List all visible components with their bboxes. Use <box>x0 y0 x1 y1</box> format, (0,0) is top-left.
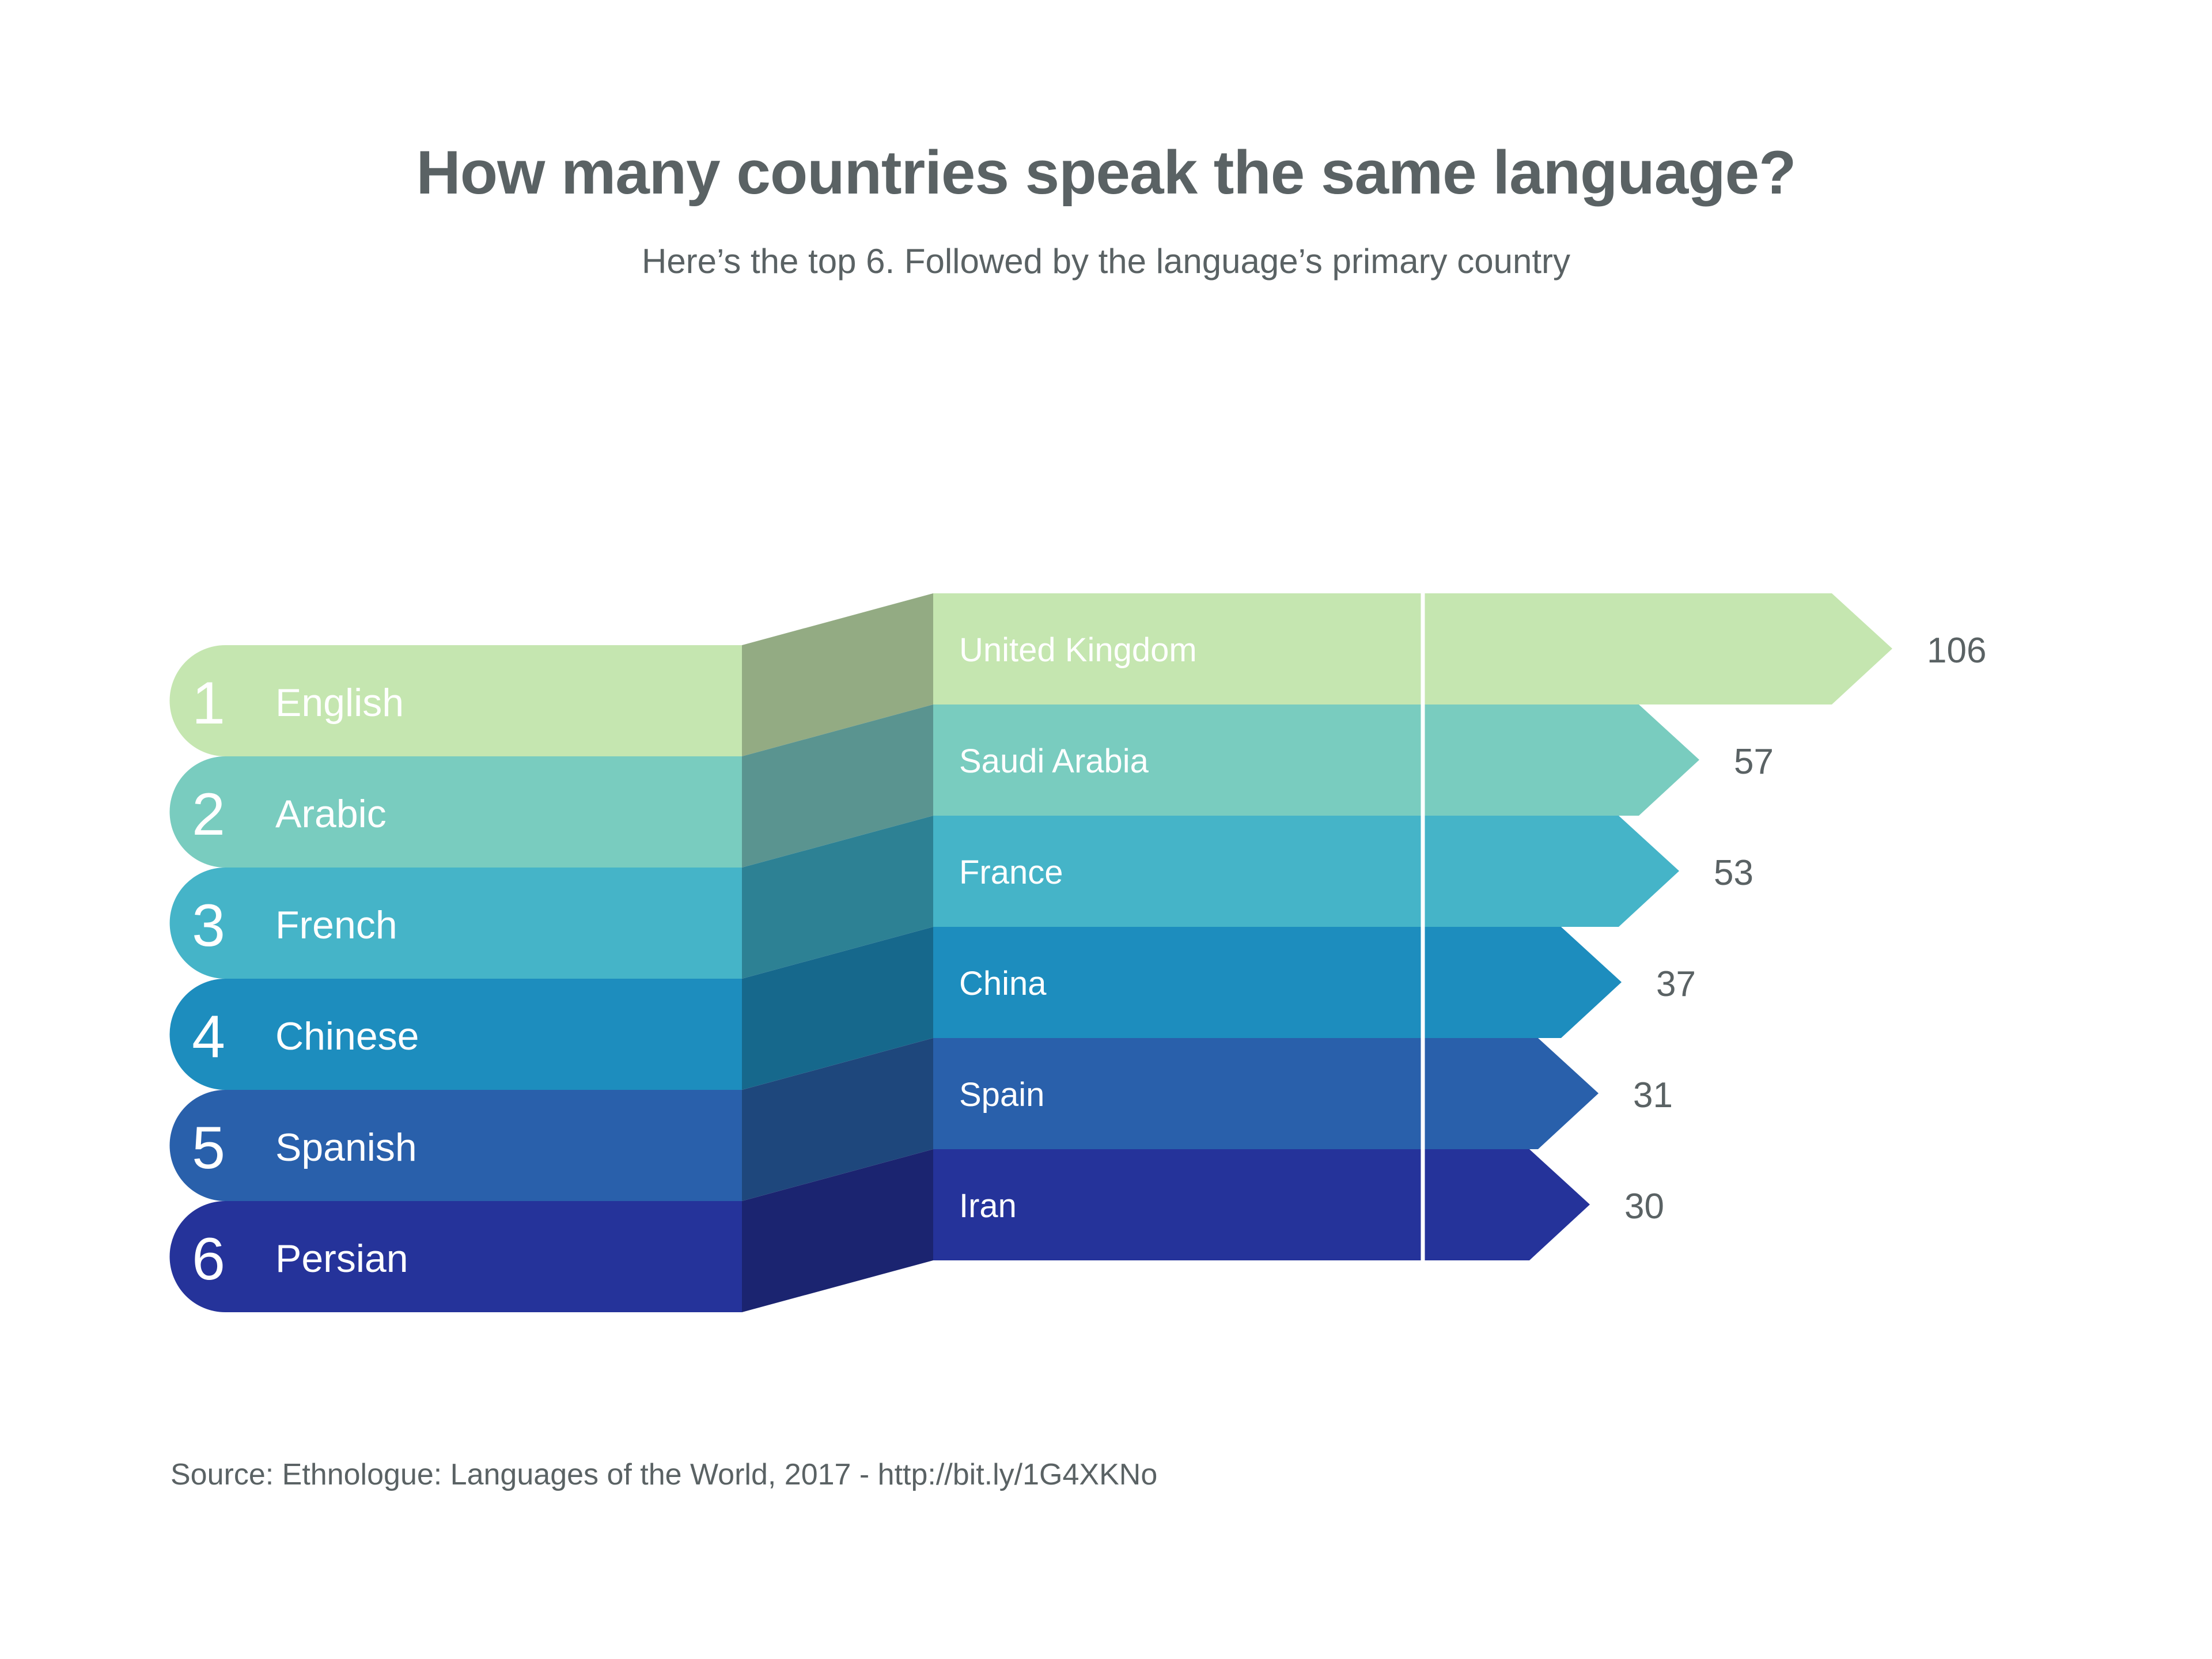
value-bar-row-1[interactable]: United Kingdom 106 <box>933 593 1986 704</box>
language-tile-3 <box>170 868 742 979</box>
source-note: Source: Ethnologue: Languages of the Wor… <box>171 1457 1157 1492</box>
language-name-1: English <box>275 681 404 725</box>
language-row-4[interactable]: 4 Chinese <box>170 979 743 1090</box>
language-row-1[interactable]: 1 English <box>170 645 743 756</box>
language-tile-5 <box>170 1090 743 1201</box>
rank-number-2: 2 <box>192 781 225 848</box>
value-label-6: 30 <box>1624 1187 1664 1226</box>
value-bar-row-6[interactable]: Iran 30 <box>933 1149 1664 1260</box>
ranked-bar-chart: 1 English 2 Arabic 3 French 4 Chinese 5 <box>0 0 2212 1659</box>
value-label-3: 53 <box>1714 853 1753 893</box>
country-name-1: United Kingdom <box>959 631 1197 669</box>
language-tile-4 <box>170 979 743 1090</box>
rank-number-5: 5 <box>192 1115 225 1181</box>
language-name-6: Persian <box>275 1237 408 1281</box>
language-label-panel: 1 English 2 Arabic 3 French 4 Chinese 5 <box>170 645 743 1312</box>
language-row-6[interactable]: 6 Persian <box>170 1201 743 1312</box>
country-name-6: Iran <box>959 1187 1017 1225</box>
value-bar-row-5[interactable]: Spain 31 <box>933 1038 1673 1149</box>
chart-canvas: 1 English 2 Arabic 3 French 4 Chinese 5 <box>0 0 2212 1659</box>
language-row-2[interactable]: 2 Arabic <box>170 756 743 868</box>
language-row-3[interactable]: 3 French <box>170 868 742 979</box>
country-name-5: Spain <box>959 1076 1044 1113</box>
rank-number-3: 3 <box>192 892 225 959</box>
language-name-4: Chinese <box>275 1014 419 1058</box>
language-tile-1 <box>170 645 743 756</box>
value-bar-row-3[interactable]: France 53 <box>933 816 1753 927</box>
language-name-3: French <box>275 903 397 947</box>
value-label-2: 57 <box>1734 742 1774 782</box>
value-label-5: 31 <box>1633 1075 1673 1115</box>
language-tile-2 <box>170 756 743 868</box>
country-name-4: China <box>959 965 1047 1002</box>
value-bar-row-2[interactable]: Saudi Arabia 57 <box>933 704 1774 816</box>
country-name-2: Saudi Arabia <box>959 743 1149 780</box>
language-tile-6 <box>170 1201 743 1312</box>
value-label-1: 106 <box>1927 631 1986 671</box>
value-bar-row-4[interactable]: China 37 <box>933 927 1696 1038</box>
rank-number-4: 4 <box>192 1003 225 1070</box>
language-name-2: Arabic <box>275 792 387 836</box>
rank-number-1: 1 <box>192 670 225 737</box>
value-label-4: 37 <box>1656 964 1696 1004</box>
rank-number-6: 6 <box>192 1226 225 1293</box>
value-bar-panel: United Kingdom 106 Saudi Arabia 57 Franc… <box>933 593 1986 1260</box>
language-row-5[interactable]: 5 Spanish <box>170 1090 743 1201</box>
value-bar-6 <box>933 1149 1590 1260</box>
language-name-5: Spanish <box>275 1126 417 1169</box>
connector-ribbon <box>742 593 933 1312</box>
country-name-3: France <box>959 854 1063 891</box>
